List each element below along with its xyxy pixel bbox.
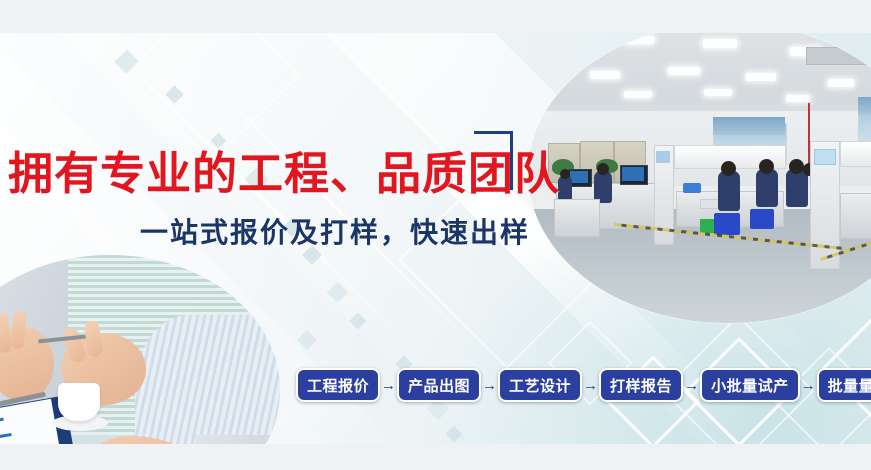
bg-diamond-dot [446,426,463,443]
office-photo-scene [528,33,871,323]
flow-step-3[interactable]: 工艺设计 [498,368,582,402]
flow-arrow-icon: → [800,370,817,400]
bg-diamond-dot [297,330,317,350]
page-root: 拥有专业的工程、品质团队 一站式报价及打样，快速出样 工程报价→产品出图→工艺设… [0,0,871,470]
office-workshop-photo [528,33,871,323]
flow-arrow-icon: → [582,370,599,400]
bg-diamond-outline [124,33,299,163]
flow-step-1[interactable]: 工程报价 [296,368,380,402]
flow-arrow-icon: → [683,370,700,400]
bg-diamond-dot [350,313,367,330]
flow-arrow-icon: → [481,370,498,400]
flow-arrow-icon: → [380,370,397,400]
banner-subheadline: 一站式报价及打样，快速出样 [140,219,530,247]
bg-diamond-dot [165,85,183,103]
bg-diamond-dot [302,245,322,265]
flow-step-2[interactable]: 产品出图 [397,368,481,402]
flow-step-5[interactable]: 小批量试产 [700,368,800,402]
business-meeting-photo [0,255,280,444]
bg-diamond-dot [327,282,348,303]
bg-diamond-dot [114,49,139,74]
flow-step-6[interactable]: 批量量产 [817,368,871,402]
flow-step-4[interactable]: 打样报告 [599,368,683,402]
corner-bracket-icon [474,131,513,190]
meeting-photo-scene [0,255,280,444]
process-flow: 工程报价→产品出图→工艺设计→打样报告→小批量试产→批量量产 [296,366,871,404]
hero-banner: 拥有专业的工程、品质团队 一站式报价及打样，快速出样 工程报价→产品出图→工艺设… [0,33,871,444]
bg-diamond-dot [211,133,227,149]
